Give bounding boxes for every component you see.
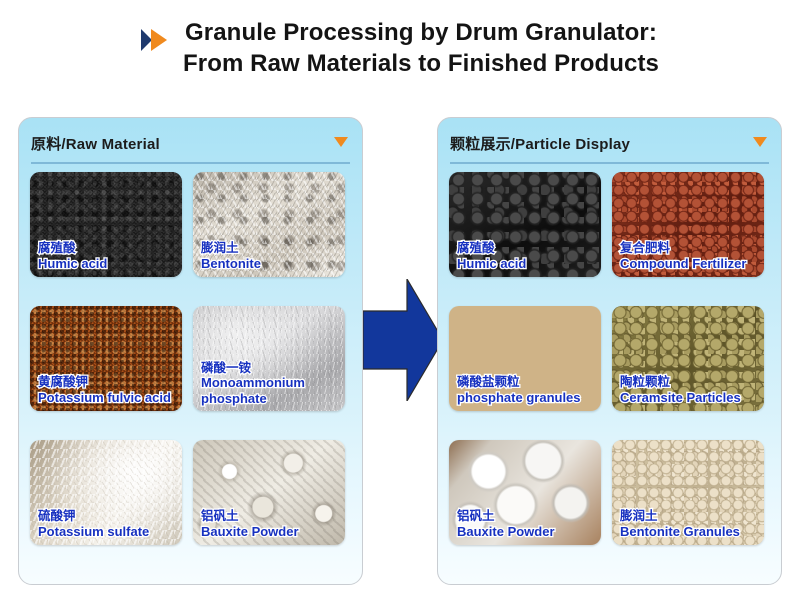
page-title: Granule Processing by Drum Granulator: F…: [0, 18, 800, 79]
arrow-svg: [363, 279, 443, 401]
caret-down-icon[interactable]: [334, 137, 348, 147]
particle-card[interactable]: 腐殖酸 Humic acid: [449, 172, 601, 277]
title-text: Granule Processing by Drum Granulator: F…: [183, 18, 659, 79]
particle-label-en: Humic acid: [457, 256, 597, 271]
particle-card[interactable]: 磷酸盐颗粒 phosphate granules: [449, 306, 601, 411]
particle-label-cn: 膨润土: [620, 509, 760, 524]
particle-label: 腐殖酸 Humic acid: [457, 241, 597, 271]
particle-label-en: Bauxite Powder: [457, 524, 597, 539]
particle-card[interactable]: 复合肥料 Compound Fertilizer: [612, 172, 764, 277]
particle-display-panel-header: 颗粒展示/Particle Display: [450, 124, 769, 164]
title-line-2: From Raw Materials to Finished Products: [183, 49, 659, 80]
particle-card[interactable]: 陶粒颗粒 Ceramsite Particles: [612, 306, 764, 411]
raw-material-card-grid: 腐殖酸 Humic acid 膨润土 Bentonite 黄腐酸钾 Potass…: [30, 172, 351, 545]
material-label-en: Monoammonium phosphate: [201, 375, 341, 406]
material-label: 磷酸一铵 Monoammonium phosphate: [201, 361, 341, 406]
caret-down-icon[interactable]: [753, 137, 767, 147]
title-line-1: Granule Processing by Drum Granulator:: [185, 19, 657, 46]
material-card[interactable]: 硫酸钾 Potassium sulfate: [30, 440, 182, 545]
bullet-triangle-orange: [151, 29, 167, 51]
material-label: 铝矾土 Bauxite Powder: [201, 509, 341, 539]
material-label-cn: 磷酸一铵: [201, 361, 341, 376]
material-card[interactable]: 磷酸一铵 Monoammonium phosphate: [193, 306, 345, 411]
particle-label: 陶粒颗粒 Ceramsite Particles: [620, 375, 760, 405]
particle-display-panel-title: 颗粒展示/Particle Display: [450, 133, 630, 154]
particle-label-en: Ceramsite Particles: [620, 390, 760, 405]
material-label-cn: 黄腐酸钾: [38, 375, 178, 390]
material-label-cn: 铝矾土: [201, 509, 341, 524]
raw-material-panel: 原料/Raw Material 腐殖酸 Humic acid 膨润土 Bento…: [18, 117, 363, 585]
material-label-cn: 膨润土: [201, 241, 341, 256]
particle-card[interactable]: 铝矾土 Bauxite Powder: [449, 440, 601, 545]
material-label: 硫酸钾 Potassium sulfate: [38, 509, 178, 539]
particle-label-cn: 陶粒颗粒: [620, 375, 760, 390]
right-block-arrow-icon: [363, 279, 443, 401]
material-label-cn: 硫酸钾: [38, 509, 178, 524]
particle-label-en: phosphate granules: [457, 390, 597, 405]
particle-label-cn: 铝矾土: [457, 509, 597, 524]
material-label: 黄腐酸钾 Potassium fulvic acid: [38, 375, 178, 405]
particle-label-en: Bentonite Granules: [620, 524, 760, 539]
material-label-en: Potassium sulfate: [38, 524, 178, 539]
particle-label: 膨润土 Bentonite Granules: [620, 509, 760, 539]
particle-label: 铝矾土 Bauxite Powder: [457, 509, 597, 539]
particle-label: 磷酸盐颗粒 phosphate granules: [457, 375, 597, 405]
particle-display-panel: 颗粒展示/Particle Display 腐殖酸 Humic acid 复合肥…: [437, 117, 782, 585]
material-label-en: Bentonite: [201, 256, 341, 271]
material-card[interactable]: 腐殖酸 Humic acid: [30, 172, 182, 277]
material-label-en: Potassium fulvic acid: [38, 390, 178, 405]
material-card[interactable]: 膨润土 Bentonite: [193, 172, 345, 277]
arrow-shape: [363, 279, 443, 401]
material-label: 膨润土 Bentonite: [201, 241, 341, 271]
particle-label-cn: 腐殖酸: [457, 241, 597, 256]
raw-material-panel-title: 原料/Raw Material: [31, 133, 160, 154]
particle-label-en: Compound Fertilizer: [620, 256, 760, 271]
particle-label: 复合肥料 Compound Fertilizer: [620, 241, 760, 271]
material-label-en: Humic acid: [38, 256, 178, 271]
material-card[interactable]: 黄腐酸钾 Potassium fulvic acid: [30, 306, 182, 411]
material-card[interactable]: 铝矾土 Bauxite Powder: [193, 440, 345, 545]
double-triangle-bullet-icon: [141, 26, 175, 56]
material-label-en: Bauxite Powder: [201, 524, 341, 539]
material-label-cn: 腐殖酸: [38, 241, 178, 256]
particle-card-grid: 腐殖酸 Humic acid 复合肥料 Compound Fertilizer …: [449, 172, 770, 545]
material-label: 腐殖酸 Humic acid: [38, 241, 178, 271]
particle-label-cn: 磷酸盐颗粒: [457, 375, 597, 390]
raw-material-panel-header: 原料/Raw Material: [31, 124, 350, 164]
particle-label-cn: 复合肥料: [620, 241, 760, 256]
particle-card[interactable]: 膨润土 Bentonite Granules: [612, 440, 764, 545]
